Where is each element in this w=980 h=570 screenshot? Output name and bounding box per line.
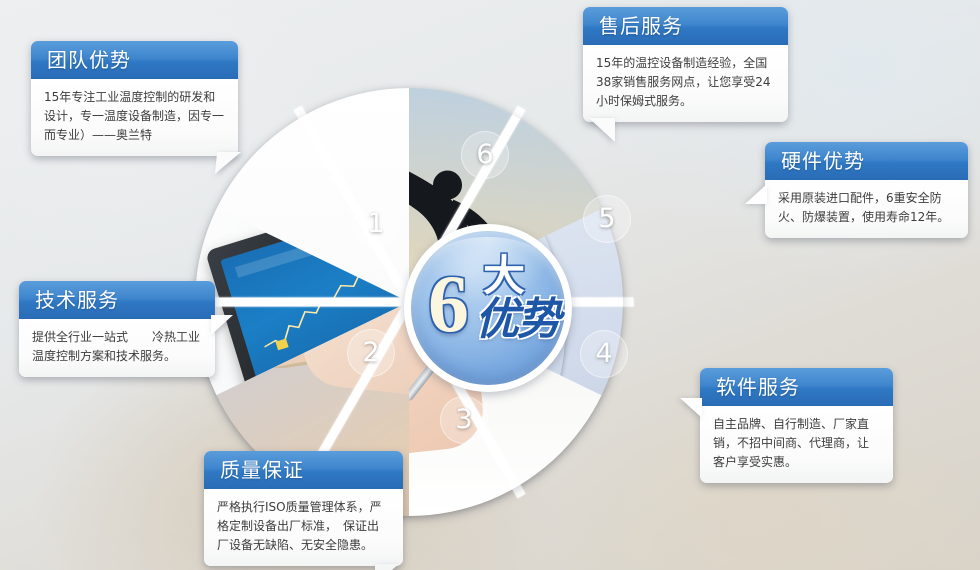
segment-number-4[interactable]: 4 <box>580 330 628 378</box>
callout-tail-technical <box>211 315 233 335</box>
card-body-software: 自主品牌、自行制造、厂家直销，不招中间商、代理商，让客户享受实惠。 <box>700 406 893 483</box>
card-title-quality: 质量保证 <box>204 451 403 489</box>
center-number-six: 6 <box>428 263 469 345</box>
callout-tail-software <box>680 398 702 418</box>
callout-card-technical[interactable]: 技术服务 提供全行业一站式 冷热工业温度控制方案和技术服务。 <box>19 281 215 377</box>
callout-card-software[interactable]: 软件服务 自主品牌、自行制造、厂家直销，不招中间商、代理商，让客户享受实惠。 <box>700 368 893 483</box>
card-title-technical: 技术服务 <box>19 281 215 319</box>
card-title-hardware: 硬件优势 <box>765 142 968 180</box>
segment-number-6[interactable]: 6 <box>461 131 509 179</box>
callout-tail-hardware <box>745 184 767 204</box>
center-badge: 6 大 优势 <box>404 224 572 392</box>
callout-card-hardware[interactable]: 硬件优势 采用原装进口配件，6重安全防火、防爆装置，使用寿命12年。 <box>765 142 968 238</box>
card-title-team: 团队优势 <box>31 41 238 79</box>
callout-tail-quality <box>375 564 399 570</box>
callout-tail-team <box>215 152 241 174</box>
card-body-team: 15年专注工业温度控制的研发和设计，专一温度设备制造，因专一而专业）——奥兰特 <box>31 79 238 156</box>
card-title-after-sales: 售后服务 <box>583 7 788 45</box>
card-body-quality: 严格执行ISO质量管理体系，严格定制设备出厂标准， 保证出厂设备无缺陷、无安全隐… <box>204 489 403 566</box>
center-char-da: 大 <box>483 255 525 297</box>
card-title-software: 软件服务 <box>700 368 893 406</box>
segment-number-1[interactable]: 1 <box>352 200 400 248</box>
center-word-advantage: 优势 <box>475 297 559 343</box>
callout-tail-after-sales <box>589 118 615 142</box>
card-body-hardware: 采用原装进口配件，6重安全防火、防爆装置，使用寿命12年。 <box>765 180 968 238</box>
card-body-after-sales: 15年的温控设备制造经验，全国38家销售服务网点，让您享受24小时保姆式服务。 <box>583 45 788 122</box>
segment-number-5[interactable]: 5 <box>583 195 631 243</box>
segment-number-3[interactable]: 3 <box>440 396 488 444</box>
card-body-technical: 提供全行业一站式 冷热工业温度控制方案和技术服务。 <box>19 319 215 377</box>
infographic-canvas: 1 2 3 4 5 6 6 大 优势 团队优势 15年专注工业温度控制的研发和设… <box>0 0 980 570</box>
callout-card-after-sales[interactable]: 售后服务 15年的温控设备制造经验，全国38家销售服务网点，让您享受24小时保姆… <box>583 7 788 122</box>
callout-card-quality[interactable]: 质量保证 严格执行ISO质量管理体系，严格定制设备出厂标准， 保证出厂设备无缺陷… <box>204 451 403 566</box>
callout-card-team[interactable]: 团队优势 15年专注工业温度控制的研发和设计，专一温度设备制造，因专一而专业）—… <box>31 41 238 156</box>
segment-number-2[interactable]: 2 <box>347 329 395 377</box>
